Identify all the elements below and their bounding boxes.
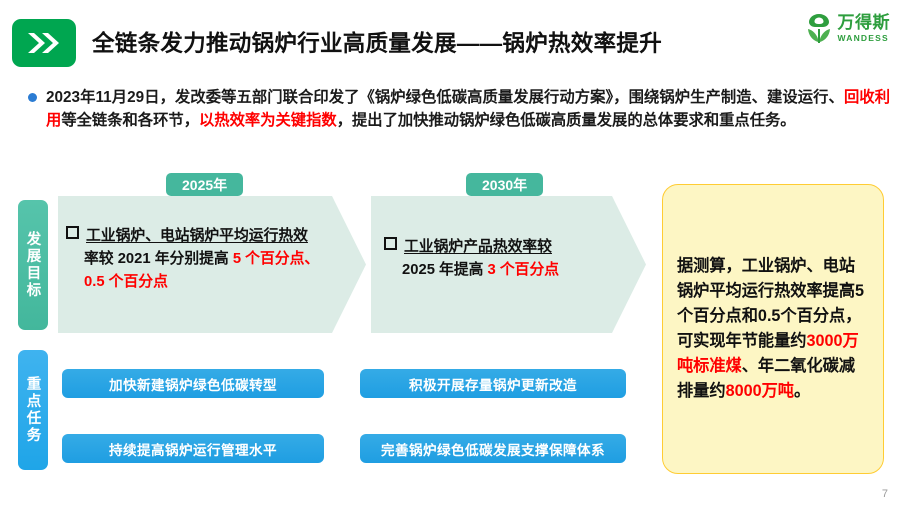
milestone-2-text: 工业锅炉产品热效率较 2025 年提高 3 个百分点	[384, 236, 632, 282]
estimate-callout-box: 据测算，工业锅炉、电站锅炉平均运行热效率提高5个百分点和0.5个百分点，可实现年…	[662, 184, 884, 474]
year-label-2030: 2030年	[466, 173, 543, 196]
callout-seg-3: 8000万吨	[726, 382, 794, 400]
slide-header: 全链条发力推动锅炉行业高质量发展——锅炉热效率提升 万得斯 WANDESS	[0, 0, 904, 74]
callout-seg-4: 。	[794, 382, 810, 400]
square-bullet-icon	[384, 237, 397, 250]
intro-seg-3: 以热效率为关键指数	[199, 112, 337, 129]
square-bullet-icon	[66, 226, 79, 239]
milestone-2-line-1: 工业锅炉产品热效率较	[404, 239, 552, 255]
sidebar-tab-development-goals[interactable]: 发展目标	[18, 200, 48, 330]
page-number: 7	[882, 488, 888, 500]
timeline-arrow-band: 工业锅炉、电站锅炉平均运行热效 率较 2021 年分别提高 5 个百分点、 0.…	[58, 196, 646, 333]
page-title: 全链条发力推动锅炉行业高质量发展——锅炉热效率提升	[92, 26, 662, 58]
double-chevron-right-icon	[12, 19, 76, 67]
key-task-item-4[interactable]: 完善锅炉绿色低碳发展支撑保障体系	[360, 434, 626, 463]
slide-root: 全链条发力推动锅炉行业高质量发展——锅炉热效率提升 万得斯 WANDESS 20…	[0, 0, 904, 512]
intro-paragraph-block: 2023年11月29日，发改委等五部门联合印发了《锅炉绿色低碳高质量发展行动方案…	[28, 86, 890, 133]
year-label-2025: 2025年	[166, 173, 243, 196]
intro-seg-4: ，提出了加快推动锅炉绿色低碳高质量发展的总体要求和重点任务。	[337, 112, 796, 129]
wandess-plant-logo-icon	[805, 12, 833, 44]
milestone-1-line-3-red: 0.5 个百分点	[66, 271, 338, 294]
estimate-callout-text: 据测算，工业锅炉、电站锅炉平均运行热效率提高5个百分点和0.5个百分点，可实现年…	[663, 254, 883, 405]
milestone-1-text: 工业锅炉、电站锅炉平均运行热效 率较 2021 年分别提高 5 个百分点、 0.…	[66, 225, 338, 294]
milestone-2-line-2-prefix: 2025 年提高	[402, 262, 488, 278]
sidebar-tab-key-tasks[interactable]: 重点任务	[18, 350, 48, 470]
logo-chinese-name: 万得斯	[838, 14, 891, 31]
brand-logo: 万得斯 WANDESS	[805, 12, 891, 44]
key-task-item-1[interactable]: 加快新建锅炉绿色低碳转型	[62, 369, 324, 398]
milestone-1-line-2-red: 5 个百分点、	[233, 251, 319, 267]
intro-seg-0: 2023年11月29日，发改委等五部门联合印发了《锅炉绿色低碳高质量发展行动方案…	[46, 89, 844, 106]
logo-english-name: WANDESS	[838, 34, 891, 43]
milestone-1-line-1: 工业锅炉、电站锅炉平均运行热效	[86, 228, 308, 244]
milestone-2-line-2-red: 3 个百分点	[488, 262, 560, 278]
key-task-item-3[interactable]: 持续提高锅炉运行管理水平	[62, 434, 324, 463]
intro-seg-2: 等全链条和各环节，	[61, 112, 199, 129]
intro-paragraph-text: 2023年11月29日，发改委等五部门联合印发了《锅炉绿色低碳高质量发展行动方案…	[46, 86, 890, 133]
milestone-1-line-2-prefix: 率较 2021 年分别提高	[84, 251, 233, 267]
blue-dot-bullet-icon	[28, 93, 37, 102]
key-task-item-2[interactable]: 积极开展存量锅炉更新改造	[360, 369, 626, 398]
